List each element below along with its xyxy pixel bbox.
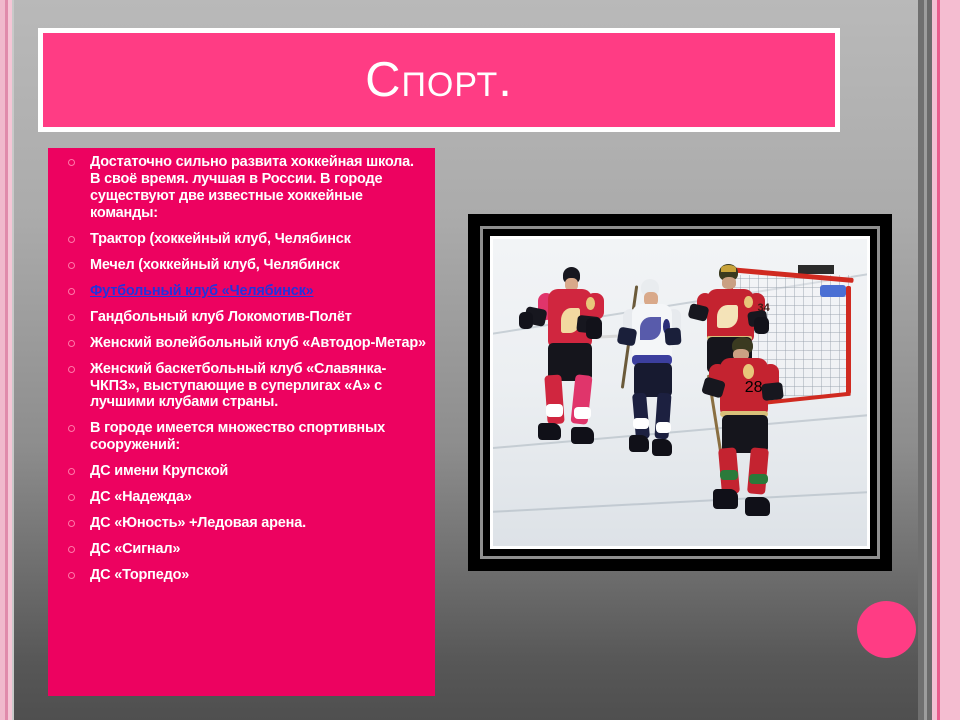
slide-title-box: Спорт.: [38, 28, 840, 132]
player-skate: [713, 489, 738, 508]
player-glove: [754, 317, 770, 335]
list-item: Трактор (хоккейный клуб, Челябинск: [58, 231, 427, 248]
player-skate: [652, 439, 672, 456]
pink-circle-decoration: [857, 601, 916, 658]
player-face: [722, 277, 737, 289]
player-arm: [761, 382, 784, 401]
circle-bullet-icon: [68, 366, 75, 373]
circle-bullet-icon: [68, 340, 75, 347]
list-item-label: ДС «Надежда»: [90, 489, 192, 505]
player-skate: [745, 497, 770, 516]
list-item: В городе имеется множество спортивных со…: [58, 420, 427, 454]
bullet-list: Достаточно сильно развита хоккейная школ…: [48, 148, 435, 584]
list-item: Гандбольный клуб Локомотив-Полёт: [58, 309, 427, 326]
page-title: Спорт.: [365, 56, 513, 105]
circle-bullet-icon: [68, 546, 75, 553]
edge-stripe-pink-wide: [940, 0, 960, 720]
presentation-slide: Спорт. Достаточно сильно развита хоккейн…: [0, 0, 960, 720]
list-item: Мечел (хоккейный клуб, Челябинск: [58, 257, 427, 274]
list-item: Женский волейбольный клуб «Автодор-Метар…: [58, 335, 427, 352]
list-item: ДС имени Крупской: [58, 463, 427, 480]
goal-post-right: [846, 286, 851, 394]
hockey-game-photo: 34: [493, 239, 867, 546]
circle-bullet-icon: [68, 288, 75, 295]
edge-stripe-gray: [12, 0, 14, 720]
player-sock: [749, 474, 768, 484]
net-shadow: [798, 265, 834, 273]
photo-frame: 34: [468, 214, 892, 571]
ice-line: [493, 487, 867, 514]
player-skate: [538, 423, 561, 440]
hockey-player-number-28: 28: [699, 337, 804, 527]
list-item: ДС «Сигнал»: [58, 541, 427, 558]
left-edge-decoration: [0, 0, 16, 720]
list-item-label: ДС «Торпедо»: [90, 567, 189, 583]
circle-bullet-icon: [68, 314, 75, 321]
jersey-patch: [743, 364, 755, 379]
list-item-label: Достаточно сильно развита хоккейная школ…: [90, 154, 414, 221]
right-edge-decoration: [918, 0, 960, 720]
list-item-label: Женский баскетбольный клуб «Славянка-ЧКП…: [90, 361, 386, 411]
slide-body-box: Достаточно сильно развита хоккейная школ…: [48, 148, 435, 696]
list-item-label: Мечел (хоккейный клуб, Челябинск: [90, 257, 339, 273]
player-arm: [664, 328, 681, 346]
list-item-label: Трактор (хоккейный клуб, Челябинск: [90, 231, 351, 247]
photo-frame-inner-line: 34: [480, 226, 880, 559]
player-pants: [634, 363, 672, 397]
list-item: ДС «Надежда»: [58, 489, 427, 506]
helmet-highlight: [721, 265, 737, 272]
circle-bullet-icon: [68, 520, 75, 527]
list-item-label: Женский волейбольный клуб «Автодор-Метар…: [90, 335, 426, 351]
list-item: Достаточно сильно развита хоккейная школ…: [58, 154, 427, 222]
circle-bullet-icon: [68, 425, 75, 432]
circle-bullet-icon: [68, 262, 75, 269]
photo-frame-mat: 34: [490, 236, 870, 549]
list-item: ДС «Торпедо»: [58, 567, 427, 584]
circle-bullet-icon: [68, 236, 75, 243]
player-sock: [656, 422, 671, 433]
circle-bullet-icon: [68, 494, 75, 501]
list-item-label: ДС «Юность» +Ледовая арена.: [90, 515, 306, 531]
list-item-label: В городе имеется множество спортивных со…: [90, 420, 385, 453]
list-item: Женский баскетбольный клуб «Славянка-ЧКП…: [58, 361, 427, 412]
list-item: ДС «Юность» +Ледовая арена.: [58, 515, 427, 532]
player-sock: [720, 470, 739, 480]
player-arm: [617, 327, 638, 347]
player-leg: [544, 375, 564, 426]
list-item-label: Гандбольный клуб Локомотив-Полёт: [90, 309, 352, 325]
hyperlink-label[interactable]: Футбольный клуб «Челябинск»: [90, 283, 314, 299]
list-item-label: ДС «Сигнал»: [90, 541, 180, 557]
player-leg: [747, 447, 769, 494]
blue-object-in-net: [820, 285, 846, 297]
player-leg: [632, 393, 650, 440]
list-item-hyperlink[interactable]: Футбольный клуб «Челябинск»: [58, 283, 427, 300]
player-sock: [546, 404, 563, 417]
jersey-patch: [744, 296, 753, 308]
player-glove: [586, 318, 603, 339]
player-sock: [574, 407, 591, 418]
player-skate: [571, 427, 594, 444]
circle-bullet-icon: [68, 572, 75, 579]
player-sock: [633, 418, 648, 429]
list-item-label: ДС имени Крупской: [90, 463, 228, 479]
player-skate: [629, 435, 649, 452]
circle-bullet-icon: [68, 159, 75, 166]
jersey-crest: [640, 317, 662, 340]
circle-bullet-icon: [68, 468, 75, 475]
player-glove: [519, 312, 534, 329]
